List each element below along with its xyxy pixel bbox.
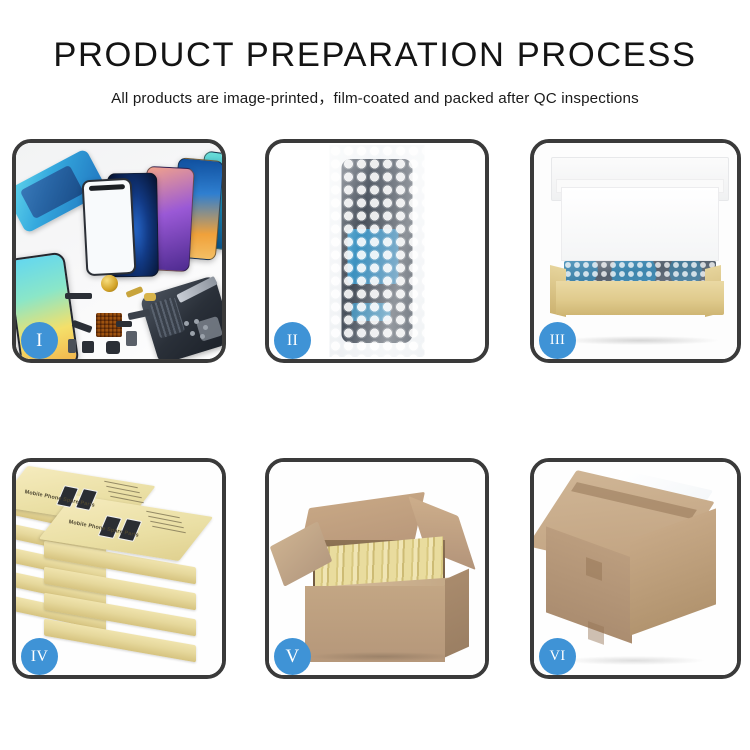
step-badge-v: V <box>274 638 311 675</box>
step-panel-i: I <box>12 139 226 363</box>
step-panel-iv: Mobile Phone Spare Parts Mobile Phone Sp… <box>12 458 226 679</box>
bubble-wrapped-item-in-box <box>564 261 716 283</box>
bubble-wrap-package <box>330 145 425 357</box>
carton-front-panel <box>305 586 445 662</box>
page-subtitle: All products are image-printed，film-coat… <box>0 86 750 108</box>
drop-shadow <box>309 652 455 661</box>
step-badge-vi: VI <box>539 638 576 675</box>
glass-screen-graphic <box>82 178 137 276</box>
step-panel-iii: III <box>530 139 741 363</box>
foam-liner <box>561 187 719 261</box>
page-title: PRODUCT PREPARATION PROCESS <box>0 36 750 75</box>
spare-part <box>65 293 92 299</box>
screws-group <box>184 319 212 341</box>
gold-connector-part <box>101 275 118 292</box>
step-badge-ii: II <box>274 322 311 359</box>
spare-part <box>106 341 120 354</box>
step-panel-ii: II <box>265 139 489 363</box>
spare-part <box>82 341 94 353</box>
drop-shadow <box>562 336 718 345</box>
spare-part <box>68 339 76 353</box>
header: PRODUCT PREPARATION PROCESS All products… <box>0 0 750 108</box>
carton-side-panel <box>445 569 469 658</box>
step-panel-v: V <box>265 458 489 679</box>
process-step-grid: I II <box>12 139 741 679</box>
spare-part <box>126 331 137 346</box>
step-panel-vi: VI <box>530 458 741 679</box>
drop-shadow <box>564 656 704 665</box>
box-front-panel <box>556 281 724 315</box>
step-badge-i: I <box>21 322 58 359</box>
step-badge-iii: III <box>539 322 576 359</box>
plastic-sheen <box>330 145 425 357</box>
spare-part <box>116 321 132 327</box>
step-badge-iv: IV <box>21 638 58 675</box>
product-preparation-infographic: PRODUCT PREPARATION PROCESS All products… <box>0 0 750 750</box>
spare-part <box>144 293 156 301</box>
